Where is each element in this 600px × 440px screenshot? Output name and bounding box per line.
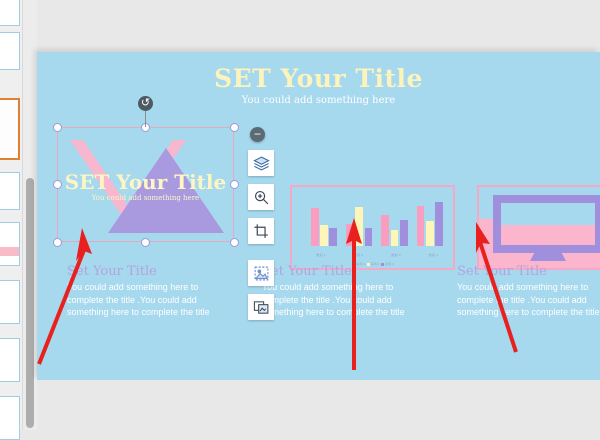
text-column-2: Set Your Title You could add something h… <box>262 264 422 319</box>
resize-handle-ne[interactable] <box>230 123 239 132</box>
chart-bar <box>365 228 373 246</box>
slide-thumbnail-rail[interactable] <box>0 0 22 430</box>
bar-group <box>341 193 376 246</box>
chart-bar <box>400 220 408 247</box>
slide-thumbnail-1[interactable] <box>0 0 20 26</box>
resize-handle-e[interactable] <box>230 180 239 189</box>
chart-bar <box>320 225 328 246</box>
monitor-screen-top <box>501 203 595 225</box>
column-body: You could add something here to complete… <box>457 281 600 319</box>
thumb-pink-band <box>0 247 19 256</box>
chart-bar <box>417 206 425 246</box>
monitor-stand <box>530 253 566 261</box>
slide-canvas[interactable]: SET Your Title You could add something h… <box>37 52 600 380</box>
slide-thumbnail-2[interactable] <box>0 32 20 70</box>
chart-bar <box>435 202 443 246</box>
slide-thumbnail-5[interactable] <box>0 222 20 266</box>
resize-handle-sw[interactable] <box>53 238 62 247</box>
slide-thumbnail-7[interactable] <box>0 338 20 382</box>
monitor-screen-bottom <box>501 225 595 245</box>
text-column-1: Set Your Title You could add something h… <box>67 264 227 319</box>
picture-frame-icon[interactable] <box>248 260 274 286</box>
text-column-3: Set Your Title You could add something h… <box>457 264 600 319</box>
bar-group <box>306 193 341 246</box>
crop-icon[interactable] <box>248 218 274 244</box>
zoom-in-icon[interactable] <box>248 184 274 210</box>
chart-bar <box>355 207 363 246</box>
slide-thumbnail-8[interactable] <box>0 396 20 440</box>
column-body: You could add something here to complete… <box>262 281 422 319</box>
chart-bar <box>381 215 389 246</box>
bar-group <box>412 193 447 246</box>
column-body: You could add something here to complete… <box>67 281 227 319</box>
picture-floating-toolbar[interactable] <box>248 150 274 328</box>
slide-thumbnail-3[interactable] <box>0 98 20 160</box>
column-title: Set Your Title <box>457 264 600 279</box>
powerpoint-editor: SET Your Title You could add something h… <box>0 0 600 430</box>
selection-bounding-box <box>57 127 234 242</box>
chart-category-label: 类别 1 <box>306 253 336 257</box>
column-title: Set Your Title <box>67 264 227 279</box>
slide-thumbnail-4[interactable] <box>0 172 20 210</box>
chart-category-label: 类别 4 <box>419 253 449 257</box>
resize-handle-s[interactable] <box>141 238 150 247</box>
resize-handle-w[interactable] <box>53 180 62 189</box>
resize-handle-nw[interactable] <box>53 123 62 132</box>
column-title: Set Your Title <box>262 264 422 279</box>
bar-chart <box>306 193 447 246</box>
chart-picture[interactable]: 系列 1 系列 2 系列 3 类别 1类别 2类别 3类别 4 <box>290 185 455 270</box>
resize-handle-se[interactable] <box>230 238 239 247</box>
slide-subtitle: You could add something here <box>37 95 600 106</box>
rotation-stem <box>145 110 146 127</box>
chart-bar <box>426 221 434 246</box>
monitor-icon <box>493 195 600 253</box>
slide-title: SET Your Title <box>37 64 600 93</box>
collapse-toolbar-button[interactable]: − <box>250 127 265 142</box>
chart-category-label: 类别 2 <box>344 253 374 257</box>
copy-picture-icon[interactable] <box>248 294 274 320</box>
monitor-picture[interactable] <box>477 185 600 270</box>
rotate-handle[interactable]: ↺ <box>138 96 153 111</box>
chart-category-label: 类别 3 <box>381 253 411 257</box>
layers-icon[interactable] <box>248 150 274 176</box>
slide-thumbnail-6[interactable] <box>0 280 20 324</box>
bar-group <box>377 193 412 246</box>
chart-bar <box>391 230 399 246</box>
chart-bar <box>329 228 337 246</box>
chart-bar <box>311 208 319 246</box>
chart-bar <box>346 224 354 246</box>
vertical-scrollbar[interactable] <box>26 178 34 428</box>
